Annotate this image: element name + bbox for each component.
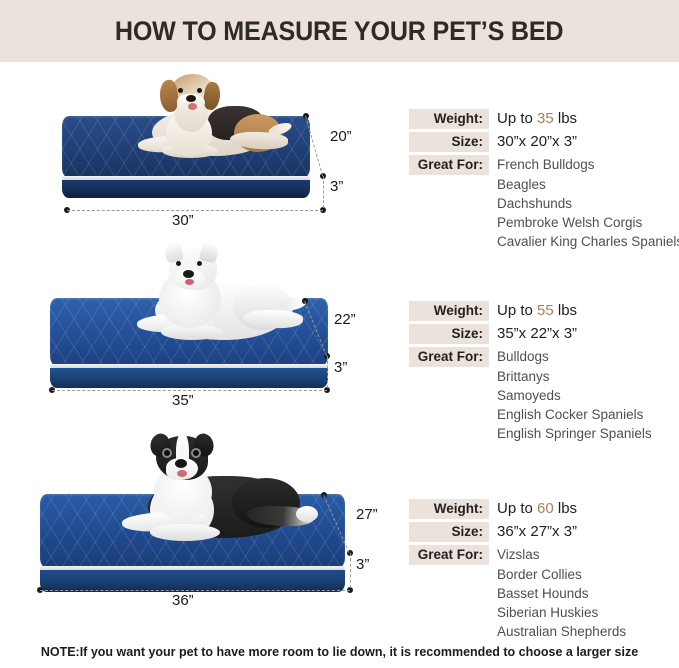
spec-panel-medium: Weight: Up to 55 lbs Size: 35”x 22”x 3” …: [409, 301, 652, 446]
weight-prefix: Up to: [497, 110, 537, 127]
list-item: Pembroke Welsh Corgis: [497, 213, 679, 232]
dog-nose: [183, 270, 194, 278]
list-item: French Bulldogs: [497, 155, 679, 175]
bed-illustration-large: 27” 3” 36”: [0, 432, 405, 632]
dog-eye-left: [164, 450, 170, 456]
spec-weight-row: Weight: Up to 55 lbs: [409, 301, 652, 321]
spec-label-weight: Weight:: [409, 499, 489, 519]
dog-ear-left: [163, 240, 184, 264]
spec-greatfor-row: Great For: Vizslas Border Collies Basset…: [409, 545, 626, 641]
spec-label-weight: Weight:: [409, 109, 489, 129]
spec-label-size: Size:: [409, 324, 489, 344]
dog-front-leg-2: [150, 524, 220, 541]
dim-line-vertical: [350, 553, 351, 588]
dog-samoyed: [115, 242, 305, 362]
list-item: Vizslas: [497, 545, 626, 565]
dog-border-collie: [104, 432, 319, 567]
dimension-label-height: 3”: [330, 178, 343, 195]
list-item: English Cocker Spaniels: [497, 405, 652, 424]
page-title: HOW TO MEASURE YOUR PET’S BED: [115, 16, 564, 47]
spec-value-size: 30”x 20”x 3”: [497, 132, 577, 152]
bed-row-large: 27” 3” 36” Weight: Up to 60 lbs Size: 36…: [0, 432, 679, 632]
dog-tongue: [188, 103, 197, 110]
spec-label-size: Size:: [409, 132, 489, 152]
list-item: Brittanys: [497, 367, 652, 386]
bed-illustration-small: 20” 3” 30”: [0, 66, 400, 226]
dog-eye-right: [197, 261, 202, 266]
dog-eye-right: [197, 88, 202, 93]
weight-prefix: Up to: [497, 302, 537, 319]
breed-list: Bulldogs Brittanys Samoyeds English Cock…: [497, 347, 652, 443]
dog-ear-right: [199, 240, 220, 264]
dimension-label-length: 35”: [172, 392, 194, 409]
spec-weight-row: Weight: Up to 35 lbs: [409, 109, 679, 129]
spec-size-row: Size: 36”x 27”x 3”: [409, 522, 626, 542]
dog-eye-left: [176, 261, 181, 266]
spec-value-weight: Up to 60 lbs: [497, 499, 577, 519]
bed-side-panel: [50, 368, 328, 388]
spec-value-weight: Up to 55 lbs: [497, 301, 577, 321]
spec-label-great-for: Great For:: [409, 347, 489, 367]
spec-size-row: Size: 35”x 22”x 3”: [409, 324, 652, 344]
dim-line-horizontal: [52, 390, 327, 391]
spec-label-weight: Weight:: [409, 301, 489, 321]
dimension-label-height: 3”: [356, 556, 369, 573]
list-item: Dachshunds: [497, 194, 679, 213]
list-item: Samoyeds: [497, 386, 652, 405]
dog-tongue: [177, 470, 187, 477]
dimension-label-length: 36”: [172, 592, 194, 609]
dimension-label-width: 20”: [330, 128, 352, 145]
dim-line-horizontal: [40, 590, 350, 591]
dimension-label-height: 3”: [334, 359, 347, 376]
spec-size-row: Size: 30”x 20”x 3”: [409, 132, 679, 152]
list-item: Basset Hounds: [497, 584, 626, 603]
spec-label-size: Size:: [409, 522, 489, 542]
weight-suffix: lbs: [554, 110, 577, 127]
spec-greatfor-row: Great For: French Bulldogs Beagles Dachs…: [409, 155, 679, 251]
dog-paw: [296, 506, 318, 522]
dog-nose: [186, 95, 196, 102]
dog-eye-left: [178, 88, 183, 93]
list-item: Siberian Huskies: [497, 603, 626, 622]
spec-value-size: 36”x 27”x 3”: [497, 522, 577, 542]
spec-weight-row: Weight: Up to 60 lbs: [409, 499, 626, 519]
dog-eye-right: [193, 450, 199, 456]
list-item: Australian Shepherds: [497, 622, 626, 641]
dog-tongue: [185, 279, 194, 285]
spec-value-weight: Up to 35 lbs: [497, 109, 577, 129]
dimension-label-width: 27”: [356, 506, 378, 523]
bed-row-small: 20” 3” 30” Weight: Up to 35 lbs Size: [0, 66, 679, 226]
infographic-page: HOW TO MEASURE YOUR PET’S BED: [0, 0, 679, 668]
list-item: Bulldogs: [497, 347, 652, 367]
list-item: Border Collies: [497, 565, 626, 584]
weight-number: 35: [537, 110, 554, 127]
spec-panel-small: Weight: Up to 35 lbs Size: 30”x 20”x 3” …: [409, 109, 679, 254]
spec-value-size: 35”x 22”x 3”: [497, 324, 577, 344]
weight-prefix: Up to: [497, 500, 537, 517]
spec-label-great-for: Great For:: [409, 545, 489, 565]
dim-line-horizontal: [67, 210, 323, 211]
bed-illustration-medium: 22” 3” 35”: [0, 240, 405, 420]
dimension-label-length: 30”: [172, 212, 194, 229]
weight-suffix: lbs: [554, 302, 577, 319]
dim-line-vertical: [323, 176, 324, 208]
bed-side-panel: [40, 570, 345, 592]
spec-greatfor-row: Great For: Bulldogs Brittanys Samoyeds E…: [409, 347, 652, 443]
bed-row-medium: 22” 3” 35” Weight: Up to 55 lbs Size: 35…: [0, 240, 679, 420]
breed-list: French Bulldogs Beagles Dachshunds Pembr…: [497, 155, 679, 251]
dimension-label-width: 22”: [334, 311, 356, 328]
dog-nose: [175, 459, 187, 468]
dim-line-vertical: [327, 356, 328, 388]
spec-label-great-for: Great For:: [409, 155, 489, 175]
spec-panel-large: Weight: Up to 60 lbs Size: 36”x 27”x 3” …: [409, 499, 626, 644]
bed-side-panel: [62, 180, 310, 198]
weight-number: 60: [537, 500, 554, 517]
header-band: HOW TO MEASURE YOUR PET’S BED: [0, 0, 679, 62]
dog-beagle: [122, 70, 292, 175]
weight-number: 55: [537, 302, 554, 319]
breed-list: Vizslas Border Collies Basset Hounds Sib…: [497, 545, 626, 641]
footer-note: NOTE:If you want your pet to have more r…: [0, 645, 679, 659]
list-item: Beagles: [497, 175, 679, 194]
weight-suffix: lbs: [554, 500, 577, 517]
